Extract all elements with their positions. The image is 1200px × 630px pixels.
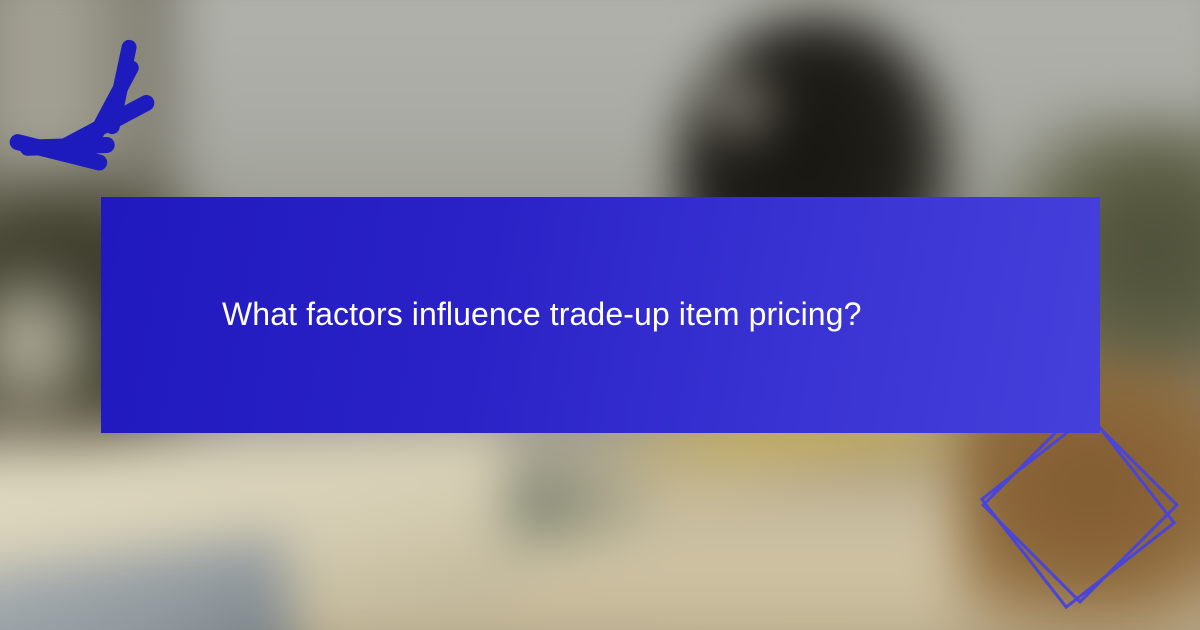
starburst-icon [0, 0, 180, 160]
background-headphone [709, 74, 773, 138]
screenshot-canvas: What factors influence trade-up item pri… [0, 0, 1200, 630]
question-banner: What factors influence trade-up item pri… [101, 197, 1100, 433]
rotated-squares-icon [970, 415, 1200, 630]
question-text: What factors influence trade-up item pri… [101, 294, 901, 336]
square-outline-front [980, 413, 1177, 610]
background-lamp-glow [0, 265, 101, 421]
